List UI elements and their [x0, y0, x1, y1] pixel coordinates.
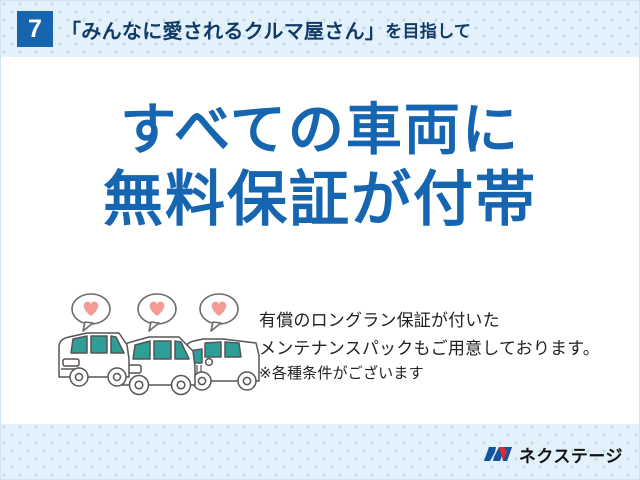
body-copy-note: ※各種条件がございます: [259, 362, 631, 386]
body-copy-line-1: 有償のロングラン保証が付いた: [259, 307, 631, 335]
headline-line-1: すべての車両に: [1, 99, 639, 162]
promo-banner: 7 「みんなに愛されるクルマ屋さん」を目指して すべての車両に 無料保証が付帯: [0, 0, 640, 480]
header-title-main: 「みんなに愛されるクルマ屋さん」: [61, 15, 385, 44]
cars-illustration-svg: [53, 289, 263, 401]
section-number-label: 7: [28, 17, 42, 42]
section-number-badge: 7: [17, 11, 53, 47]
header-title: 「みんなに愛されるクルマ屋さん」を目指して: [61, 14, 471, 44]
nextage-n-mark-icon: [483, 444, 513, 466]
brand-name-label: ネクステージ: [519, 442, 623, 467]
car-suv-jeep: [185, 339, 259, 390]
car-minivan: [119, 337, 195, 395]
cars-illustration: [53, 289, 263, 401]
body-copy-line-2: メンテナンスパックもご用意しております。: [259, 335, 631, 363]
headline-line-2: 無料保証が付帯: [1, 166, 639, 233]
headline: すべての車両に 無料保証が付帯: [1, 99, 639, 233]
header-title-tail: を目指して: [385, 17, 471, 42]
car-kei-van: [59, 333, 129, 386]
brand-logo: ネクステージ: [483, 442, 623, 467]
body-copy: 有償のロングラン保証が付いた メンテナンスパックもご用意しております。 ※各種条…: [259, 307, 631, 386]
